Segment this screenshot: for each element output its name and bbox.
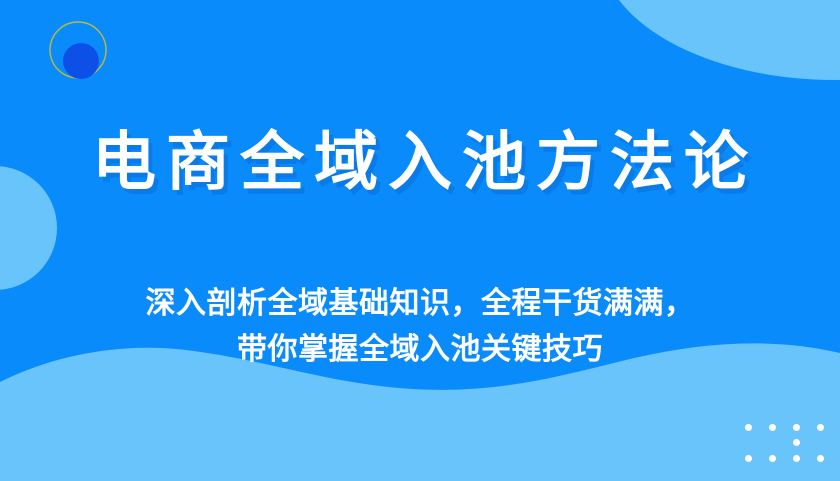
grid-dot (793, 439, 800, 446)
subtitle: 深入剖析全域基础知识，全程干货满满， 带你掌握全域入池关键技巧 (0, 281, 840, 372)
grid-dot (769, 424, 776, 431)
promo-poster: 电商全域入池方法论 深入剖析全域基础知识，全程干货满满， 带你掌握全域入池关键技… (0, 0, 840, 481)
background-decorations (0, 0, 840, 481)
subtitle-line-1: 深入剖析全域基础知识，全程干货满满， (0, 281, 840, 327)
grid-dot (817, 424, 824, 431)
grid-dot-empty (745, 439, 752, 446)
dark-blue-dot-icon (63, 43, 99, 79)
grid-dot (793, 455, 800, 462)
grid-dot (745, 424, 752, 431)
subtitle-line-2: 带你掌握全域入池关键技巧 (0, 327, 840, 373)
grid-dot (769, 455, 776, 462)
grid-dot-empty (769, 439, 776, 446)
page-title: 电商全域入池方法论 (0, 128, 840, 197)
grid-dot (745, 455, 752, 462)
grid-dot (793, 424, 800, 431)
grid-dot-empty (817, 439, 824, 446)
grid-dot (817, 455, 824, 462)
white-dot-grid (736, 420, 832, 466)
main-title-text: 电商全域入池方法论 (0, 128, 840, 197)
